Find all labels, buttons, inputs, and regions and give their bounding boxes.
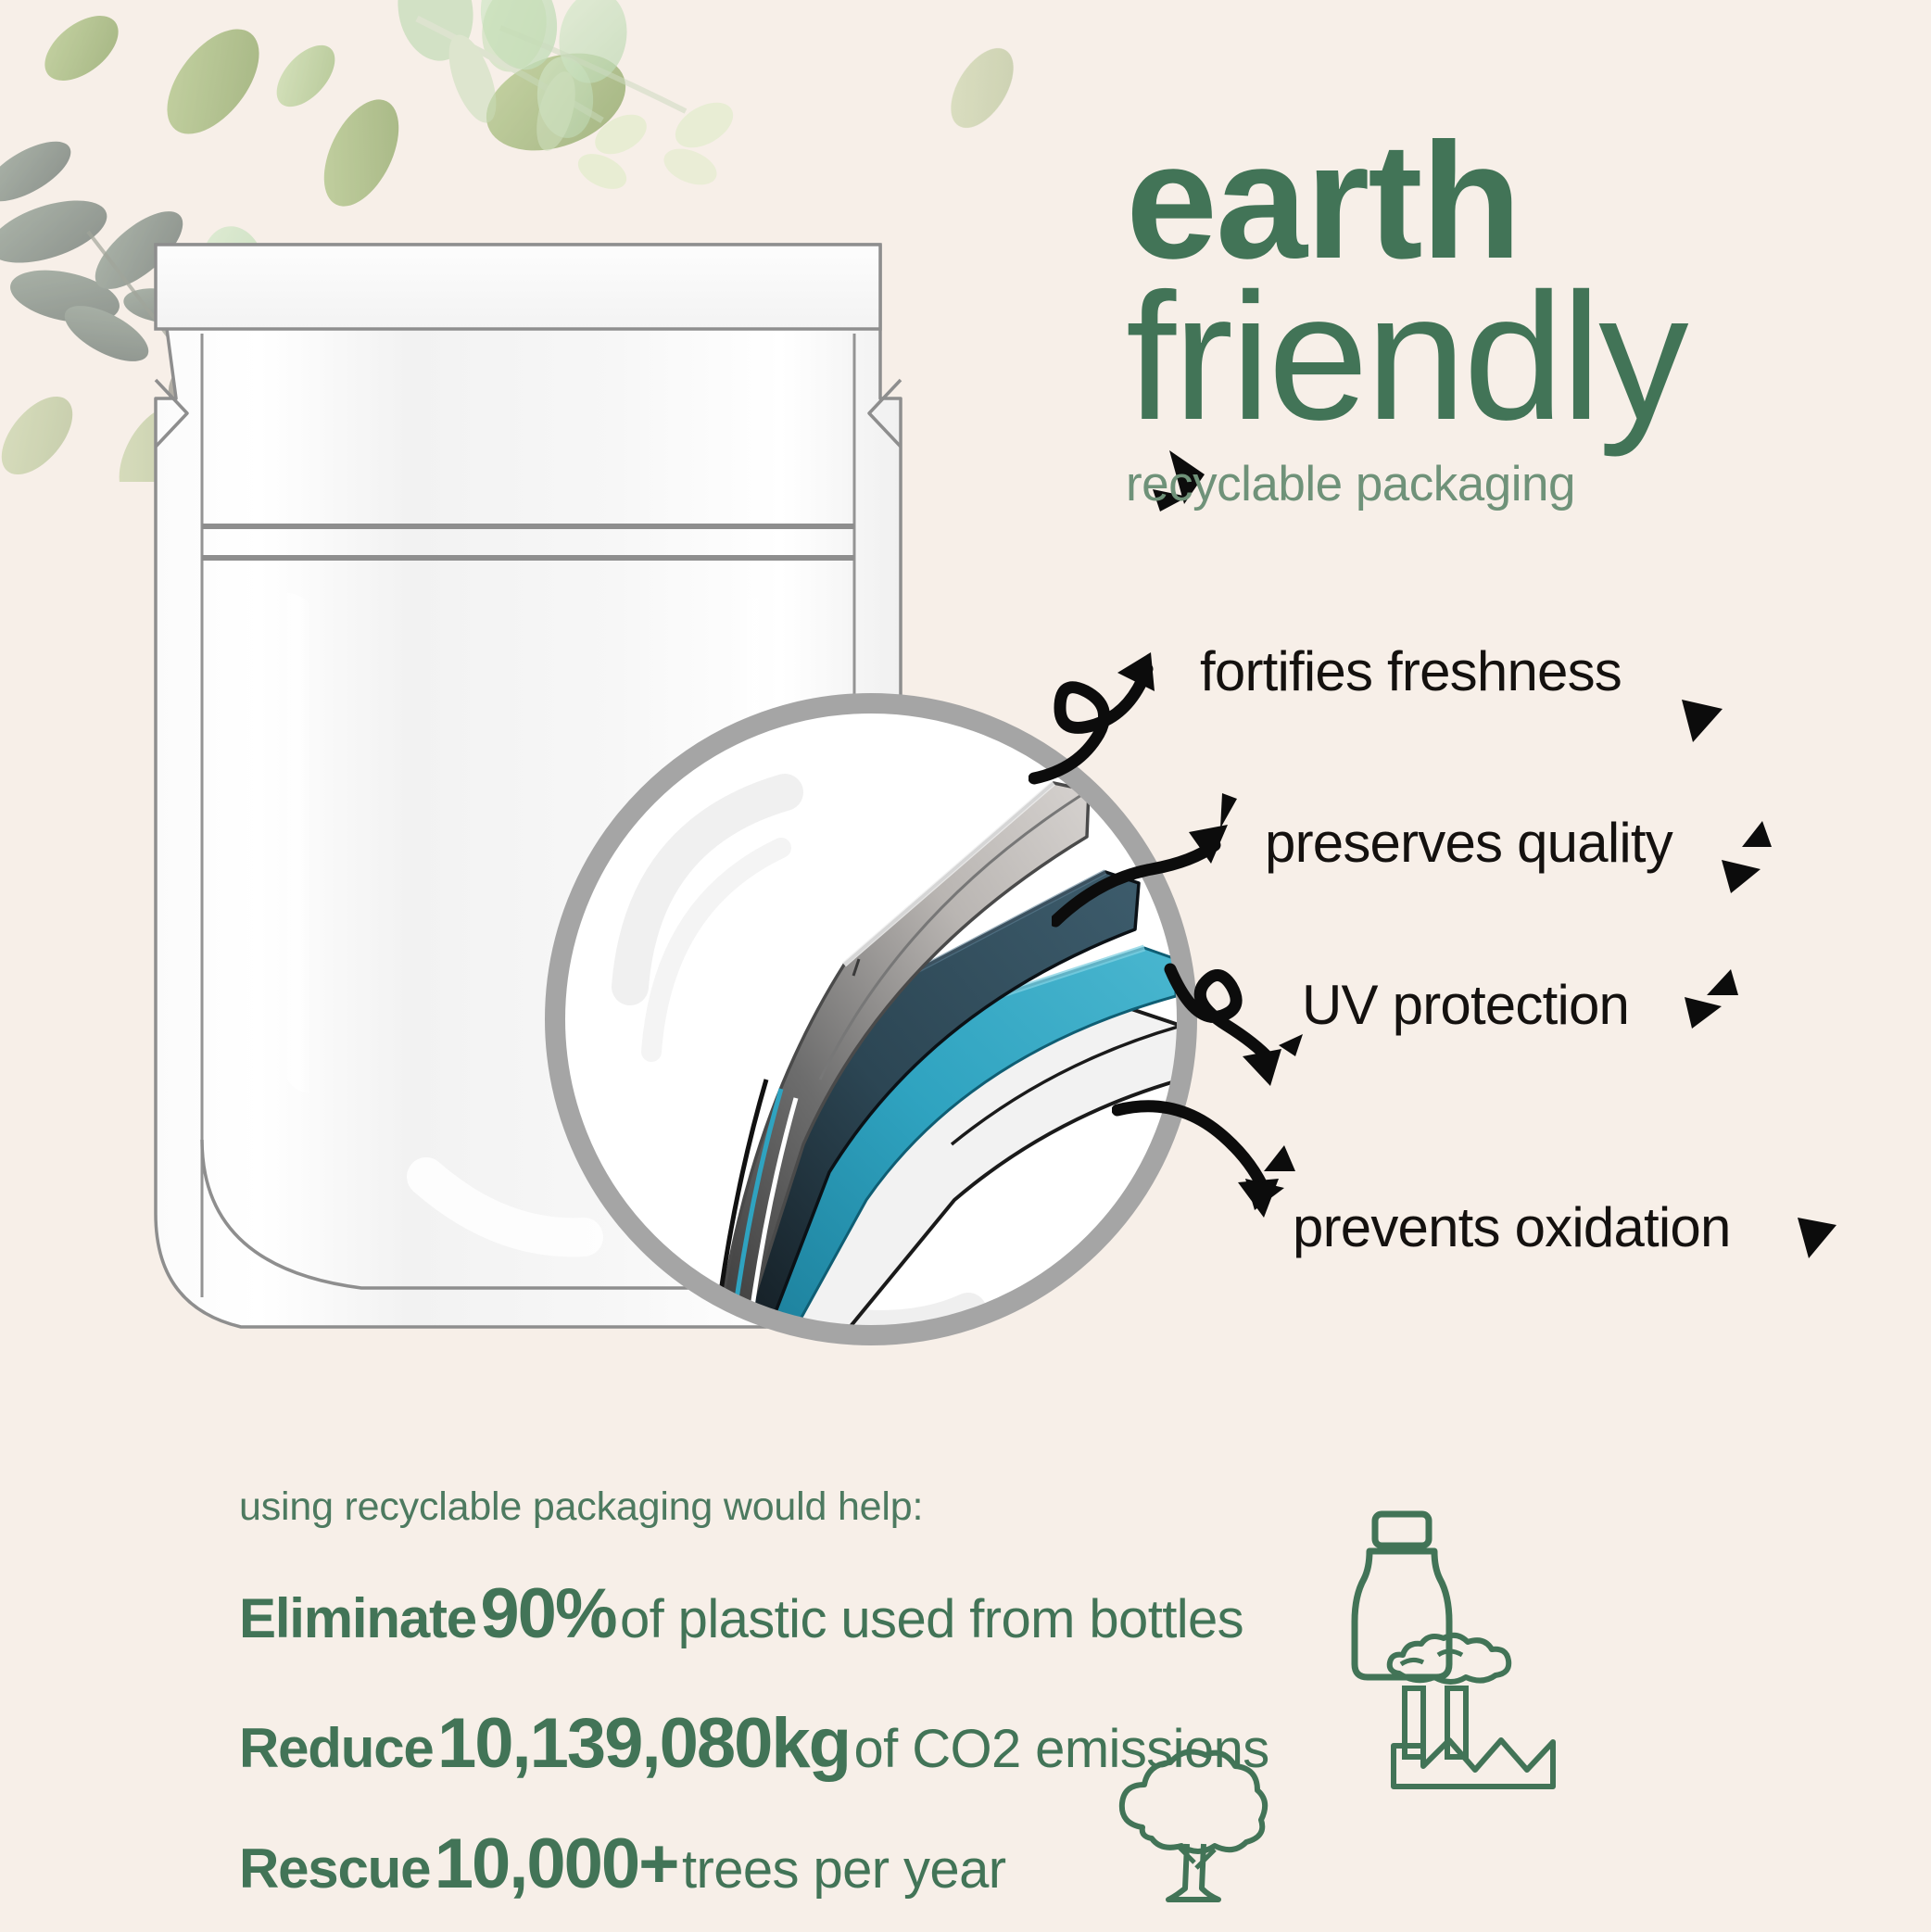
stat-number: 90% (480, 1574, 615, 1653)
sparkle-icon-4b (1788, 1205, 1872, 1288)
stat-number: 10,139,080kg (437, 1704, 850, 1783)
feature-label-preserves-quality: preserves quality (1265, 811, 1672, 875)
factory-icon (1381, 1631, 1566, 1807)
stat-number: 10,000+ (435, 1825, 678, 1903)
leaf-cluster-secondary-icon (324, 0, 825, 241)
stat-row-eliminate: Eliminate 90% of plastic used from bottl… (239, 1573, 1243, 1654)
stat-verb: Eliminate (239, 1587, 476, 1649)
sparkle-icon-2b (1714, 815, 1816, 917)
sparkle-icon-1b (1672, 690, 1756, 774)
stat-tail: of plastic used from bottles (620, 1589, 1243, 1649)
page-subtitle: recyclable packaging (1126, 456, 1895, 512)
stat-row-rescue: Rescue 10,000+ trees per year (239, 1824, 1005, 1904)
stat-verb: Reduce (239, 1717, 434, 1779)
headline-block: earth friendly recyclable packaging (1126, 125, 1895, 512)
feature-label-uv-protection: UV protection (1302, 973, 1629, 1037)
feature-label-fortifies-freshness: fortifies freshness (1200, 639, 1622, 703)
sparkle-icon-2 (1209, 788, 1265, 852)
infographic-canvas: fortifies freshness preserves quality UV… (0, 0, 1931, 1932)
sparkle-icon-3b (1677, 964, 1770, 1056)
stats-intro-text: using recyclable packaging would help: (239, 1484, 923, 1530)
tree-icon (1107, 1742, 1283, 1918)
stat-tail: trees per year (682, 1839, 1005, 1900)
feature-label-prevents-oxidation: prevents oxidation (1293, 1195, 1731, 1259)
page-title-earth: earth (1126, 125, 1895, 277)
page-title-friendly: friendly (1126, 271, 1895, 443)
stat-verb: Rescue (239, 1837, 430, 1900)
